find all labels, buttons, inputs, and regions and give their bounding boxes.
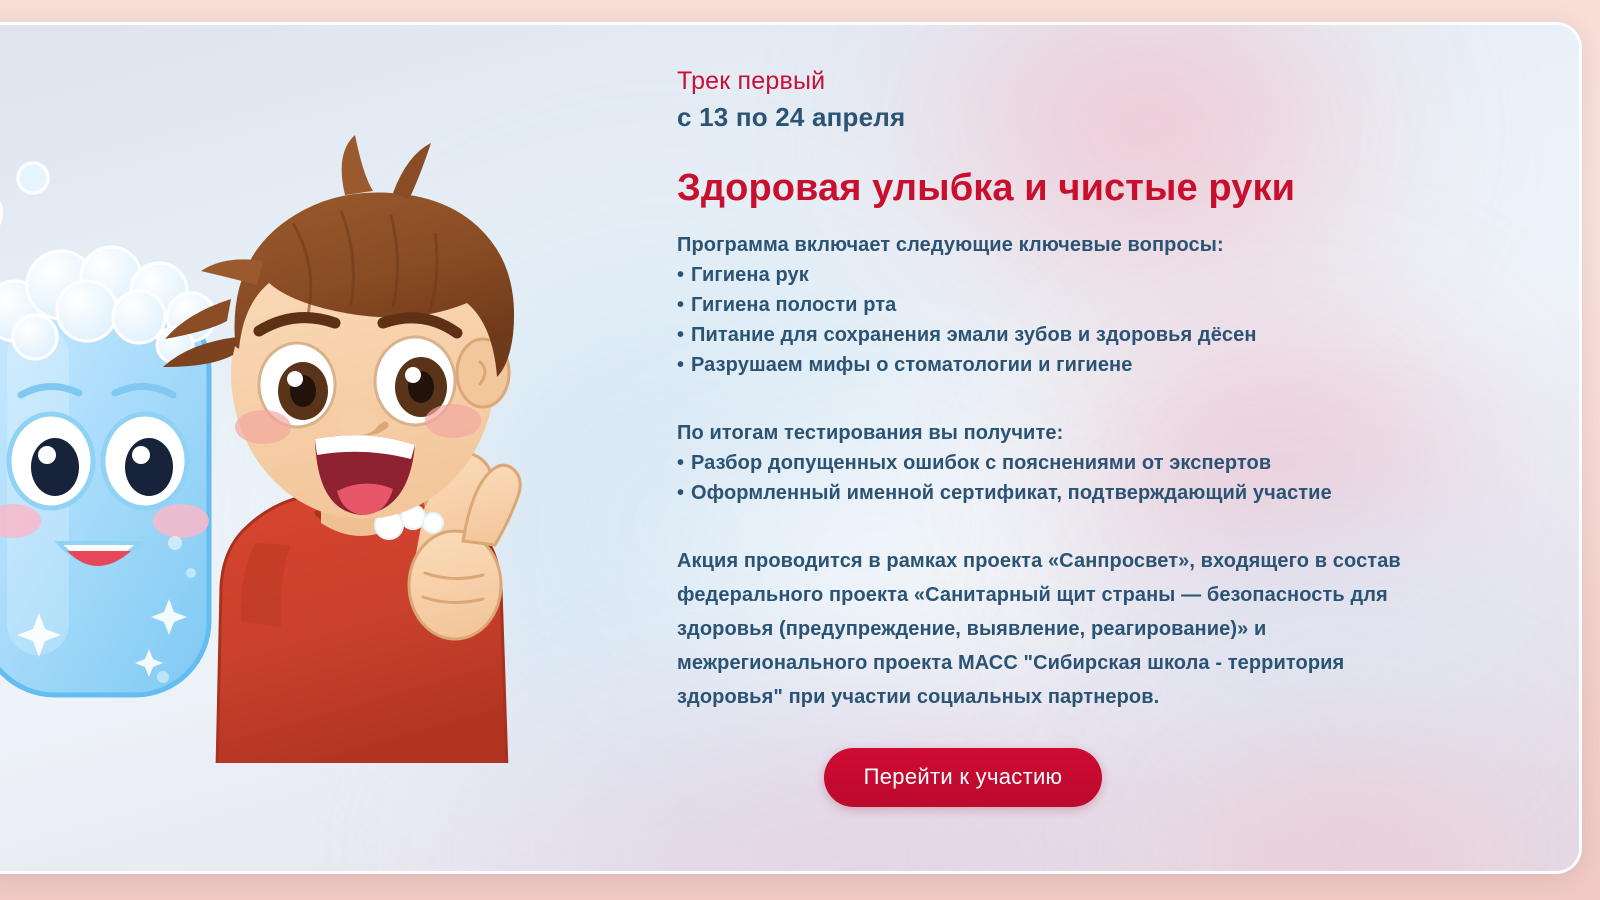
promo-content: Трек первый с 13 по 24 апреля Здоровая у… — [677, 65, 1537, 807]
results-lead: По итогам тестирования вы получите: — [677, 418, 1537, 448]
list-item-label: Питание для сохранения эмали зубов и здо… — [691, 324, 1257, 346]
list-item-label: Гигиена рук — [691, 264, 809, 286]
bullet-glyph: • — [677, 320, 691, 350]
list-item-label: Оформленный именной сертификат, подтверж… — [691, 482, 1332, 504]
date-range: с 13 по 24 апреля — [677, 100, 1537, 134]
list-item: •Разбор допущенных ошибок с пояснениями … — [677, 448, 1537, 478]
disclaimer-line: Акция проводится в рамках проекта «Санпр… — [677, 544, 1517, 578]
bullet-glyph: • — [677, 260, 691, 290]
promo-card: Трек первый с 13 по 24 апреля Здоровая у… — [0, 22, 1582, 874]
bullet-glyph: • — [677, 350, 691, 380]
results-block: По итогам тестирования вы получите: •Раз… — [677, 418, 1537, 508]
list-item: •Питание для сохранения эмали зубов и зд… — [677, 320, 1537, 350]
track-eyebrow: Трек первый — [677, 65, 1537, 98]
cta-container: Перейти к участию — [677, 748, 1249, 807]
boy-with-soap-bar-illustration — [0, 73, 563, 763]
disclaimer-line: федерального проекта «Санитарный щит стр… — [677, 578, 1517, 612]
disclaimer-paragraph: Акция проводится в рамках проекта «Санпр… — [677, 544, 1517, 714]
boy-character — [163, 135, 520, 763]
list-item: •Оформленный именной сертификат, подтвер… — [677, 478, 1537, 508]
list-item: •Гигиена рук — [677, 260, 1537, 290]
bullet-glyph: • — [677, 448, 691, 478]
disclaimer-line: здоровья" при участии социальных партнер… — [677, 680, 1517, 714]
program-block: Программа включает следующие ключевые во… — [677, 230, 1537, 380]
bullet-glyph: • — [677, 478, 691, 508]
disclaimer-line: здоровья (предупреждение, выявление, реа… — [677, 612, 1517, 646]
list-item: •Гигиена полости рта — [677, 290, 1537, 320]
join-button[interactable]: Перейти к участию — [824, 748, 1103, 807]
disclaimer-line: межрегионального проекта МАСС "Сибирская… — [677, 646, 1517, 680]
list-item-label: Разбор допущенных ошибок с пояснениями о… — [691, 452, 1271, 474]
soap-bar-character — [0, 247, 215, 695]
bullet-glyph: • — [677, 290, 691, 320]
list-item: •Разрушаем мифы о стоматологии и гигиене — [677, 350, 1537, 380]
list-item-label: Разрушаем мифы о стоматологии и гигиене — [691, 354, 1132, 376]
page-title: Здоровая улыбка и чистые руки — [677, 166, 1537, 212]
program-lead: Программа включает следующие ключевые во… — [677, 230, 1537, 260]
list-item-label: Гигиена полости рта — [691, 294, 896, 316]
